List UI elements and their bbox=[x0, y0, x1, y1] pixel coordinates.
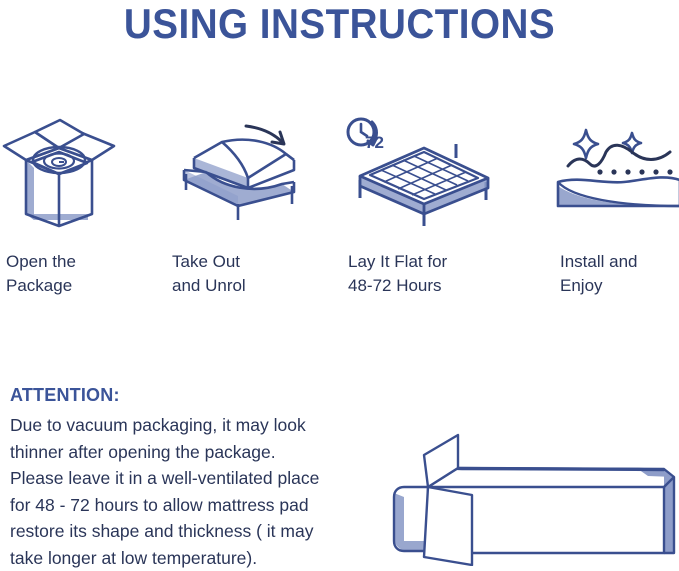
step-item-lay-flat: 72 bbox=[342, 108, 512, 308]
step-item-take-out-unrol: Take Out and Unrol bbox=[166, 108, 336, 308]
open-box-with-rolled-mattress-icon bbox=[2, 108, 172, 228]
step-item-install-enjoy: Install and Enjoy bbox=[554, 108, 679, 308]
mattress-with-sparkles-icon bbox=[540, 108, 679, 228]
clock-icon: 72 bbox=[348, 119, 384, 152]
step-label: Lay It Flat for 48-72 Hours bbox=[348, 250, 512, 298]
step-label: Open the Package bbox=[6, 250, 170, 298]
sparkle-icon bbox=[574, 130, 598, 158]
long-open-carton-box-icon bbox=[392, 425, 679, 566]
unrolling-mattress-with-arrow-icon bbox=[176, 108, 346, 228]
sparkle-icon bbox=[623, 133, 641, 153]
step-label: Take Out and Unrol bbox=[172, 250, 336, 298]
step-label: Install and Enjoy bbox=[560, 250, 679, 298]
steps-row: Open the Package bbox=[0, 108, 679, 308]
attention-block: ATTENTION: Due to vacuum packaging, it m… bbox=[10, 384, 400, 571]
attention-heading: ATTENTION: bbox=[10, 384, 400, 406]
attention-body-text: Due to vacuum packaging, it may look thi… bbox=[10, 412, 400, 571]
step-item-open-package: Open the Package bbox=[0, 108, 170, 308]
page-title: USING INSTRUCTIONS bbox=[27, 0, 652, 48]
mattress-on-bed-frame-with-72-hour-clock-icon: 72 bbox=[338, 108, 508, 228]
clock-badge-value: 72 bbox=[365, 133, 384, 152]
